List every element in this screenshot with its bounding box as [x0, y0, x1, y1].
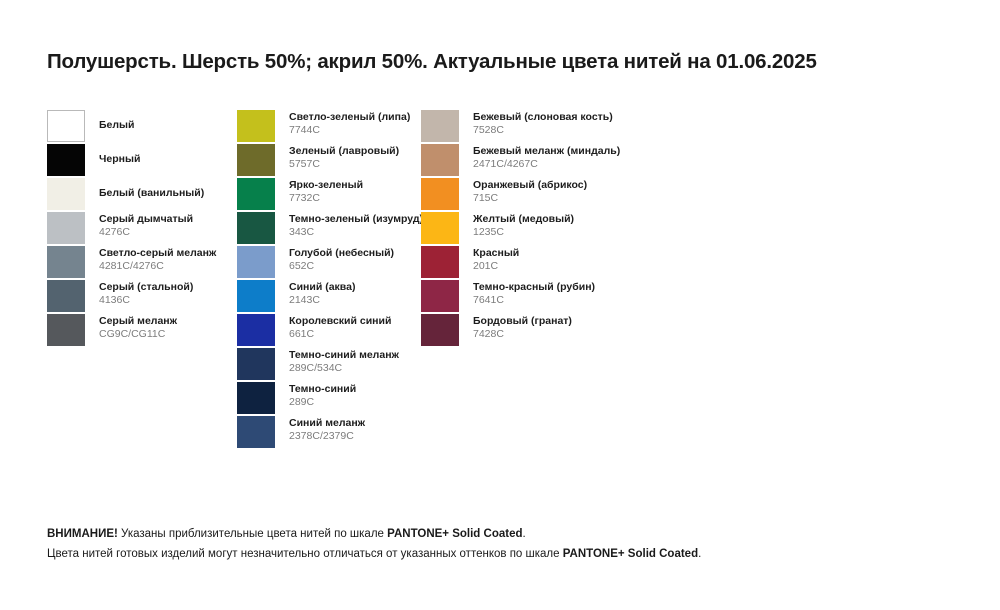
swatch-color-name: Красный: [473, 247, 519, 259]
swatch-pantone-code: 7641C: [473, 294, 595, 306]
swatch-color-name: Серый меланж: [99, 315, 177, 327]
swatch-text: Синий меланж2378C/2379C: [289, 416, 365, 443]
color-swatch: [421, 110, 459, 142]
swatch-row: Желтый (медовый)1235C: [421, 212, 721, 246]
swatch-row: Темно-зеленый (изумруд)343C: [237, 212, 421, 246]
swatch-color-name: Темно-красный (рубин): [473, 281, 595, 293]
swatch-pantone-code: 2378C/2379C: [289, 430, 365, 442]
swatch-color-name: Бордовый (гранат): [473, 315, 572, 327]
swatch-text: Серый меланжCG9C/CG11C: [99, 314, 177, 341]
swatch-color-name: Оранжевый (абрикос): [473, 179, 587, 191]
swatch-text: Оранжевый (абрикос)715C: [473, 178, 587, 205]
swatch-pantone-code: 7732C: [289, 192, 363, 204]
swatch-pantone-code: 4136C: [99, 294, 193, 306]
swatch-color-name: Серый дымчатый: [99, 213, 193, 225]
color-swatch: [47, 212, 85, 244]
swatch-text: Голубой (небесный)652C: [289, 246, 394, 273]
swatch-text: Серый (стальной)4136C: [99, 280, 193, 307]
swatch-text: Красный201C: [473, 246, 519, 273]
color-swatch: [237, 348, 275, 380]
swatch-color-name: Синий меланж: [289, 417, 365, 429]
swatch-text: Бежевый меланж (миндаль)2471C/4267C: [473, 144, 620, 171]
swatch-pantone-code: 7528C: [473, 124, 613, 136]
swatch-row: Зеленый (лавровый)5757C: [237, 144, 421, 178]
swatch-pantone-code: 201C: [473, 260, 519, 272]
swatch-row: Темно-синий289C: [237, 382, 421, 416]
swatch-pantone-code: 652C: [289, 260, 394, 272]
swatch-text: Темно-синий289C: [289, 382, 356, 409]
swatch-column-3: Бежевый (слоновая кость)7528CБежевый мел…: [421, 110, 721, 450]
color-swatch: [421, 280, 459, 312]
swatch-row: Темно-синий меланж289C/534C: [237, 348, 421, 382]
color-swatch: [47, 314, 85, 346]
footer-attention-label: ВНИМАНИЕ!: [47, 528, 118, 540]
color-chart-page: Полушерсть. Шерсть 50%; акрил 50%. Актуа…: [0, 0, 1000, 610]
color-swatch: [237, 178, 275, 210]
color-swatch: [47, 110, 85, 142]
color-swatch: [421, 314, 459, 346]
swatch-color-name: Темно-синий меланж: [289, 349, 399, 361]
color-swatch: [237, 246, 275, 278]
swatch-text: Темно-красный (рубин)7641C: [473, 280, 595, 307]
swatch-pantone-code: 7428C: [473, 328, 572, 340]
footer-line-1-end: .: [523, 528, 526, 540]
swatch-row: Серый меланжCG9C/CG11C: [47, 314, 237, 348]
swatch-text: Темно-зеленый (изумруд)343C: [289, 212, 423, 239]
color-swatch: [47, 246, 85, 278]
footer-note: ВНИМАНИЕ! Указаны приблизительные цвета …: [47, 524, 947, 564]
swatch-row: Белый: [47, 110, 237, 144]
swatch-row: Серый (стальной)4136C: [47, 280, 237, 314]
swatch-row: Светло-зеленый (липа)7744C: [237, 110, 421, 144]
footer-line-2-end: .: [698, 548, 701, 560]
swatch-row: Бежевый меланж (миндаль)2471C/4267C: [421, 144, 721, 178]
swatch-color-name: Бежевый (слоновая кость): [473, 111, 613, 123]
swatch-pantone-code: 4276C: [99, 226, 193, 238]
color-swatch: [237, 110, 275, 142]
swatch-color-name: Бежевый меланж (миндаль): [473, 145, 620, 157]
swatch-pantone-code: 661C: [289, 328, 391, 340]
swatch-row: Оранжевый (абрикос)715C: [421, 178, 721, 212]
color-swatch: [421, 246, 459, 278]
swatch-text: Белый (ванильный): [99, 178, 204, 199]
swatch-color-name: Желтый (медовый): [473, 213, 574, 225]
swatch-row: Черный: [47, 144, 237, 178]
color-swatch: [237, 314, 275, 346]
swatch-text: Серый дымчатый4276C: [99, 212, 193, 239]
swatch-color-name: Черный: [99, 145, 140, 165]
color-swatch: [421, 178, 459, 210]
swatch-row: Бежевый (слоновая кость)7528C: [421, 110, 721, 144]
swatch-color-name: Ярко-зеленый: [289, 179, 363, 191]
swatch-row: Ярко-зеленый7732C: [237, 178, 421, 212]
swatch-pantone-code: 7744C: [289, 124, 410, 136]
footer-line-1-brand: PANTONE+ Solid Coated: [387, 528, 522, 540]
color-swatch: [237, 212, 275, 244]
swatch-row: Голубой (небесный)652C: [237, 246, 421, 280]
swatch-color-name: Серый (стальной): [99, 281, 193, 293]
swatch-pantone-code: 2143C: [289, 294, 355, 306]
swatch-column-1: БелыйЧерныйБелый (ванильный)Серый дымчат…: [47, 110, 237, 450]
swatch-pantone-code: 343C: [289, 226, 423, 238]
swatch-color-name: Белый (ванильный): [99, 179, 204, 199]
swatch-pantone-code: 5757C: [289, 158, 399, 170]
swatch-pantone-code: 715C: [473, 192, 587, 204]
color-swatch: [237, 416, 275, 448]
swatch-text: Белый: [99, 110, 134, 131]
swatch-pantone-code: 2471C/4267C: [473, 158, 620, 170]
swatch-text: Ярко-зеленый7732C: [289, 178, 363, 205]
swatch-text: Черный: [99, 144, 140, 165]
swatch-text: Бежевый (слоновая кость)7528C: [473, 110, 613, 137]
swatch-row: Красный201C: [421, 246, 721, 280]
swatch-text: Желтый (медовый)1235C: [473, 212, 574, 239]
swatch-row: Белый (ванильный): [47, 178, 237, 212]
swatch-color-name: Синий (аква): [289, 281, 355, 293]
swatch-color-name: Темно-зеленый (изумруд): [289, 213, 423, 225]
swatch-pantone-code: CG9C/CG11C: [99, 328, 177, 340]
swatch-pantone-code: 4281C/4276C: [99, 260, 216, 272]
color-swatch: [237, 280, 275, 312]
swatch-pantone-code: 289C/534C: [289, 362, 399, 374]
swatch-color-name: Светло-зеленый (липа): [289, 111, 410, 123]
swatch-row: Серый дымчатый4276C: [47, 212, 237, 246]
swatch-text: Светло-серый меланж4281C/4276C: [99, 246, 216, 273]
swatch-row: Королевский синий661C: [237, 314, 421, 348]
color-swatch: [47, 280, 85, 312]
swatch-text: Бордовый (гранат)7428C: [473, 314, 572, 341]
color-swatch: [237, 382, 275, 414]
swatch-pantone-code: 289C: [289, 396, 356, 408]
footer-line-1-text: Указаны приблизительные цвета нитей по ш…: [118, 528, 387, 540]
swatch-color-name: Светло-серый меланж: [99, 247, 216, 259]
swatch-row: Бордовый (гранат)7428C: [421, 314, 721, 348]
swatch-text: Королевский синий661C: [289, 314, 391, 341]
swatch-row: Светло-серый меланж4281C/4276C: [47, 246, 237, 280]
swatch-color-name: Королевский синий: [289, 315, 391, 327]
swatch-row: Темно-красный (рубин)7641C: [421, 280, 721, 314]
swatch-text: Зеленый (лавровый)5757C: [289, 144, 399, 171]
footer-line-2-brand: PANTONE+ Solid Coated: [563, 548, 698, 560]
swatch-row: Синий меланж2378C/2379C: [237, 416, 421, 450]
swatch-color-name: Голубой (небесный): [289, 247, 394, 259]
color-swatch: [47, 178, 85, 210]
swatch-text: Светло-зеленый (липа)7744C: [289, 110, 410, 137]
footer-line-1: ВНИМАНИЕ! Указаны приблизительные цвета …: [47, 524, 947, 544]
swatch-text: Синий (аква)2143C: [289, 280, 355, 307]
swatch-columns: БелыйЧерныйБелый (ванильный)Серый дымчат…: [47, 110, 957, 450]
swatch-pantone-code: 1235C: [473, 226, 574, 238]
swatch-row: Синий (аква)2143C: [237, 280, 421, 314]
color-swatch: [421, 144, 459, 176]
swatch-color-name: Темно-синий: [289, 383, 356, 395]
swatch-text: Темно-синий меланж289C/534C: [289, 348, 399, 375]
page-title: Полушерсть. Шерсть 50%; акрил 50%. Актуа…: [47, 50, 817, 74]
swatch-color-name: Белый: [99, 111, 134, 131]
swatch-color-name: Зеленый (лавровый): [289, 145, 399, 157]
swatch-column-2: Светло-зеленый (липа)7744CЗеленый (лавро…: [237, 110, 421, 450]
color-swatch: [421, 212, 459, 244]
footer-line-2: Цвета нитей готовых изделий могут незнач…: [47, 544, 947, 564]
color-swatch: [237, 144, 275, 176]
color-swatch: [47, 144, 85, 176]
footer-line-2-text: Цвета нитей готовых изделий могут незнач…: [47, 548, 563, 560]
